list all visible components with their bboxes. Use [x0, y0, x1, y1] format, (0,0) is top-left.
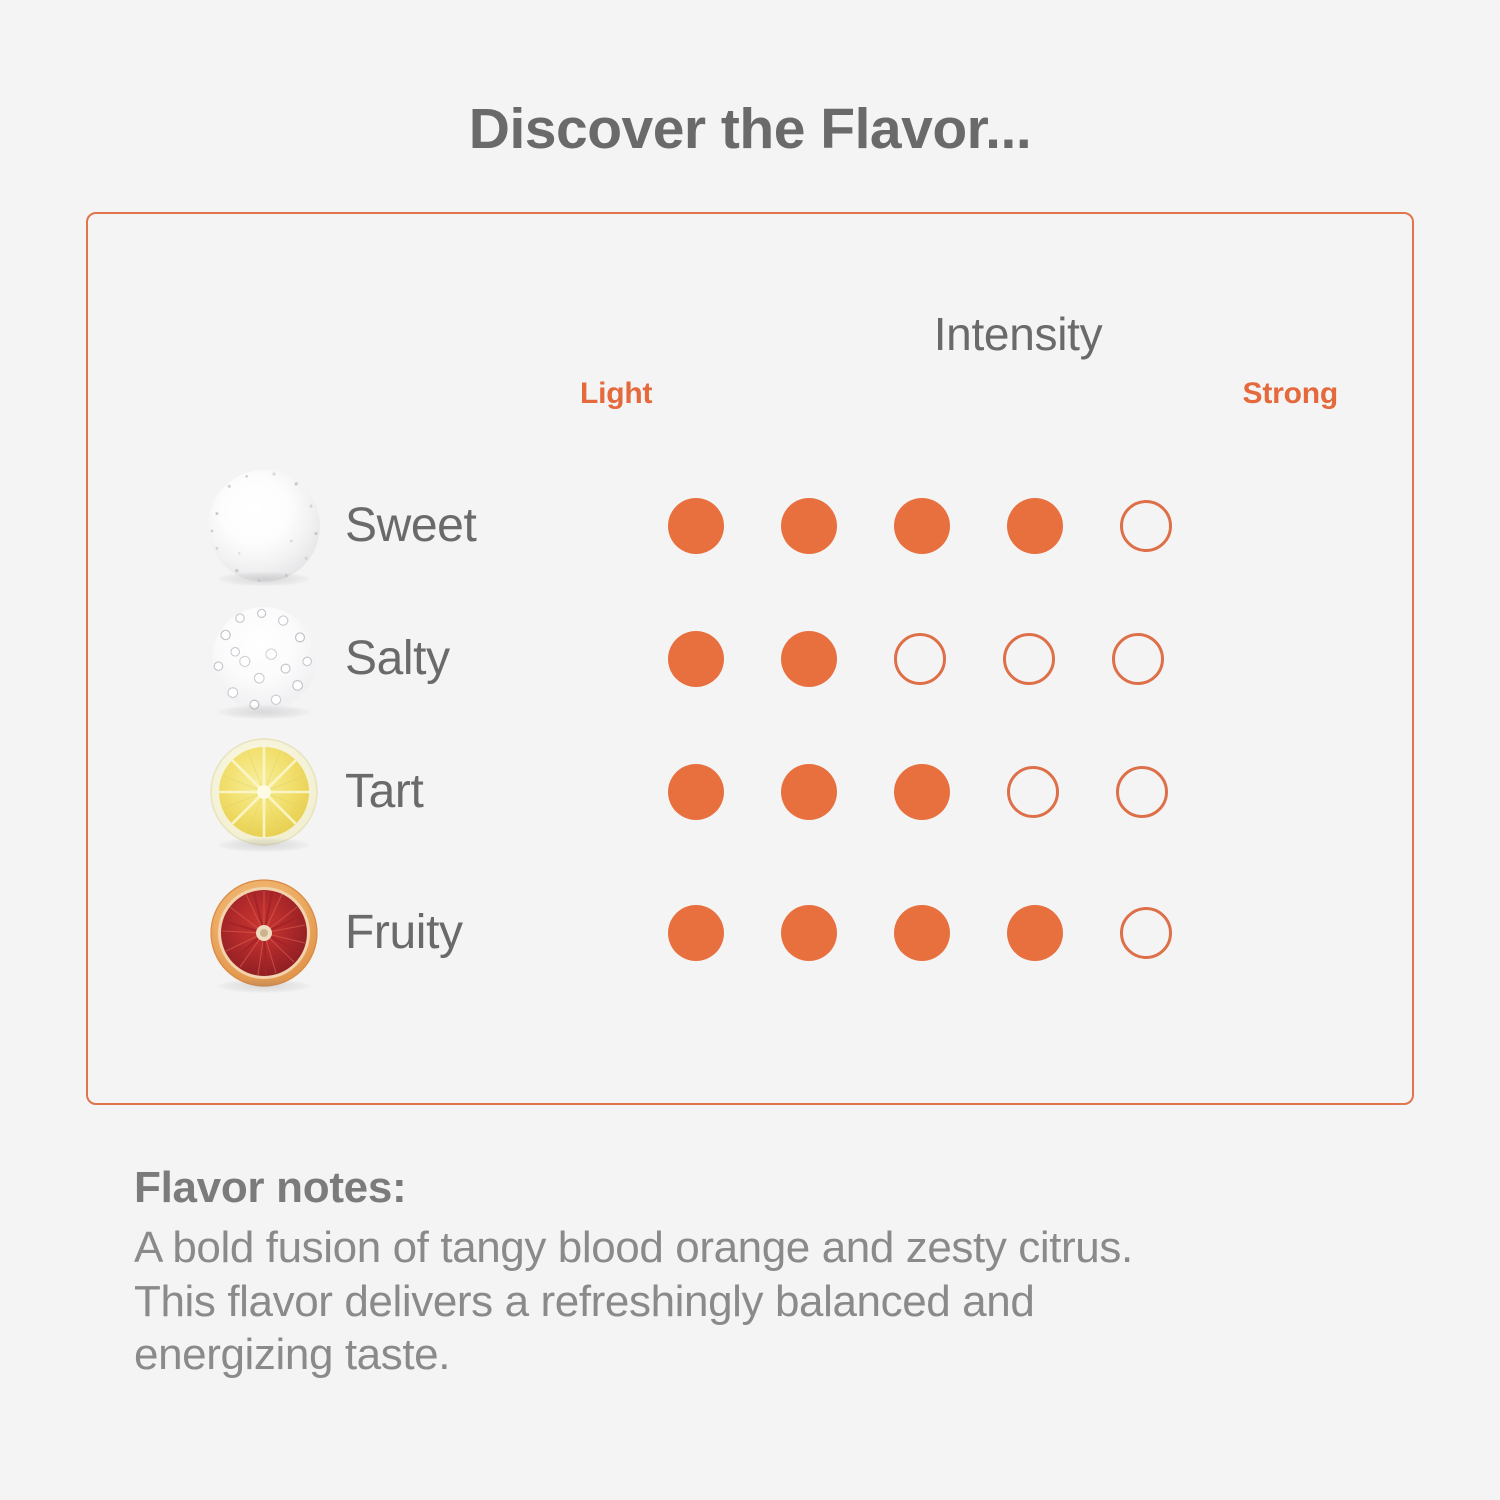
rating-dot-filled[interactable]	[781, 764, 837, 820]
flavor-row-sweet: Sweet	[88, 459, 1416, 593]
flavor-label-fruity: Fruity	[345, 909, 463, 957]
flavor-row-salty: Salty	[88, 592, 1416, 726]
rating-dot-empty[interactable]	[1120, 907, 1172, 959]
rating-dot-empty[interactable]	[1116, 766, 1168, 818]
rating-dots-tart	[668, 725, 1168, 859]
rating-dots-fruity	[668, 866, 1172, 1000]
flavor-row-fruity: Fruity	[88, 866, 1416, 1000]
flavor-notes-line: This flavor delivers a refreshingly bala…	[134, 1275, 1414, 1329]
rating-dot-filled[interactable]	[781, 905, 837, 961]
rating-dot-empty[interactable]	[1003, 633, 1055, 685]
rating-dot-filled[interactable]	[894, 764, 950, 820]
page-title: Discover the Flavor...	[0, 96, 1500, 162]
scale-label-strong: Strong	[1108, 377, 1338, 411]
sugar-icon	[202, 464, 326, 588]
rating-dot-filled[interactable]	[668, 905, 724, 961]
rating-dot-filled[interactable]	[668, 764, 724, 820]
rating-dot-filled[interactable]	[781, 631, 837, 687]
rating-dot-empty[interactable]	[894, 633, 946, 685]
flavor-label-tart: Tart	[345, 768, 423, 816]
rating-dot-filled[interactable]	[668, 631, 724, 687]
scale-label-light: Light	[580, 377, 652, 411]
rating-dot-empty[interactable]	[1112, 633, 1164, 685]
salt-icon	[202, 597, 326, 721]
flavor-notes-line: A bold fusion of tangy blood orange and …	[134, 1221, 1414, 1275]
lemon-icon	[202, 730, 326, 854]
flavor-notes-section: Flavor notes: A bold fusion of tangy blo…	[134, 1163, 1414, 1382]
blood-orange-icon	[202, 871, 326, 995]
flavor-notes-heading: Flavor notes:	[134, 1163, 1414, 1213]
intensity-heading: Intensity	[738, 307, 1298, 361]
rating-dot-filled[interactable]	[894, 905, 950, 961]
rating-dot-filled[interactable]	[668, 498, 724, 554]
flavor-label-salty: Salty	[345, 635, 450, 683]
rating-dot-filled[interactable]	[1007, 905, 1063, 961]
flavor-label-sweet: Sweet	[345, 502, 476, 550]
rating-dot-empty[interactable]	[1007, 766, 1059, 818]
flavor-row-tart: Tart	[88, 725, 1416, 859]
rating-dot-filled[interactable]	[781, 498, 837, 554]
rating-dots-salty	[668, 592, 1164, 726]
flavor-profile-page: Discover the Flavor... Intensity Light S…	[0, 0, 1500, 1500]
rating-dots-sweet	[668, 459, 1172, 593]
rating-dot-empty[interactable]	[1120, 500, 1172, 552]
flavor-notes-line: energizing taste.	[134, 1328, 1414, 1382]
flavor-intensity-card: Intensity Light Strong Sweet	[86, 212, 1414, 1105]
rating-dot-filled[interactable]	[1007, 498, 1063, 554]
rating-dot-filled[interactable]	[894, 498, 950, 554]
